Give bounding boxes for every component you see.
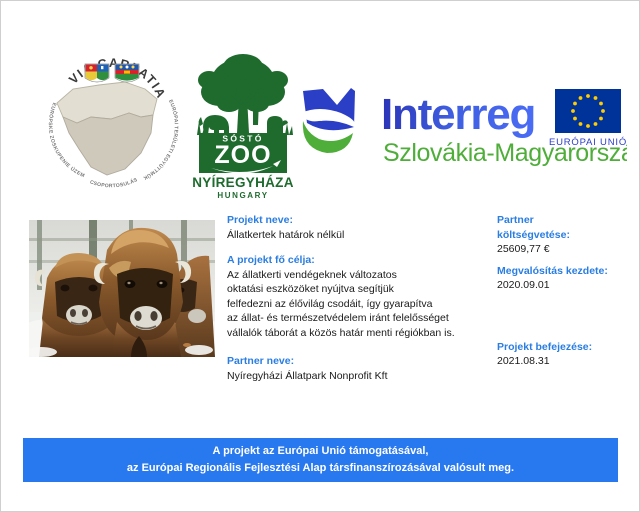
partner-name-value: Nyíregyházi Állatpark Nonprofit Kft [227, 369, 489, 384]
content-area: Projekt neve: Állatkertek határok nélkül… [1, 213, 640, 403]
bison-photo [29, 220, 215, 357]
spacer [227, 340, 489, 354]
logo-strip: VIA CARPATIA EURÓPSKE ZOSKUPENIE ÚZEMNEJ… [1, 15, 640, 205]
via-carpatia-logo: VIA CARPATIA EURÓPSKE ZOSKUPENIE ÚZEMNEJ… [33, 37, 191, 195]
end-date-value: 2021.08.31 [497, 354, 637, 369]
eu-flag-caption: EURÓPAI UNIÓ [549, 137, 627, 148]
project-name-value: Állatkertek határok nélkül [227, 228, 489, 243]
project-goal-line-4: az állat- és természetvédelem iránt fele… [227, 311, 489, 326]
eu-funding-banner: A projekt az Európai Unió támogatásával,… [23, 438, 618, 482]
svg-text:NYÍREGYHÁZA: NYÍREGYHÁZA [192, 175, 294, 190]
end-date-label: Projekt befejezése: [497, 340, 637, 355]
svg-text:CSOPORTOSULÁS: CSOPORTOSULÁS [89, 177, 139, 189]
partner-budget-value: 25609,77 € [497, 242, 637, 257]
project-info-poster: VIA CARPATIA EURÓPSKE ZOSKUPENIE ÚZEMNEJ… [0, 0, 640, 512]
interreg-wordmark: Interreg [381, 90, 535, 139]
start-date-label: Megvalósítás kezdete: [497, 264, 637, 279]
project-name-label: Projekt neve: [227, 213, 489, 228]
sosto-zoo-logo: SÓSTÓ ZOO NYÍREGYHÁZA HUNGARY [189, 47, 297, 202]
project-details-column: Projekt neve: Állatkertek határok nélkül… [227, 213, 489, 383]
project-goal-line-2: oktatási eszközöket nyújtva segítjük [227, 282, 489, 297]
interreg-mark [301, 88, 355, 153]
project-goal-line-5: vállalók táborát a közös határ menti rég… [227, 326, 489, 341]
funding-line-1: A projekt az Európai Unió támogatásával, [213, 443, 429, 460]
funding-line-2: az Európai Regionális Fejlesztési Alap t… [127, 460, 514, 477]
partner-name-label: Partner neve: [227, 354, 489, 369]
partner-budget-label-line2: költségvetése: [497, 228, 637, 243]
svg-text:ZOO: ZOO [214, 141, 271, 169]
spacer [497, 257, 637, 264]
spacer [497, 293, 637, 340]
spacer [227, 242, 489, 253]
project-goal-line-3: felfedezni az élővilág csodáit, így gyar… [227, 297, 489, 312]
interreg-logo: Interreg Szlovákia-Magyarország [297, 83, 627, 171]
partner-budget-label-line1: Partner [497, 213, 637, 228]
project-goal-text: Az állatkerti vendégeknek változatos okt… [227, 268, 489, 341]
project-figures-column: Partner költségvetése: 25609,77 € Megval… [497, 213, 637, 369]
svg-text:HUNGARY: HUNGARY [217, 191, 268, 200]
start-date-value: 2020.09.01 [497, 278, 637, 293]
eu-flag-icon: EURÓPAI UNIÓ [549, 89, 627, 148]
project-goal-line-1: Az állatkerti vendégeknek változatos [227, 268, 489, 283]
project-goal-label: A projekt fő célja: [227, 253, 489, 268]
